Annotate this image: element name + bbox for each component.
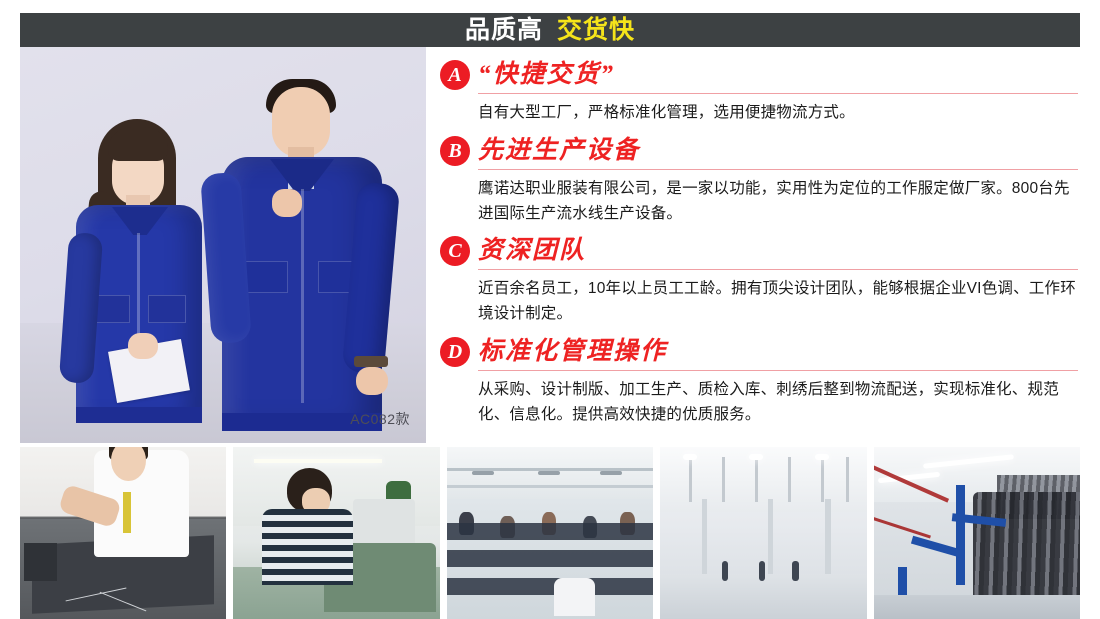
badge-a-icon: A <box>440 60 470 90</box>
hall-floor <box>660 574 866 619</box>
feature-a-divider <box>478 93 1078 94</box>
feature-a-title: “快捷交货” <box>478 62 615 88</box>
product-code-label: AC082款 <box>350 409 410 429</box>
hall-lamp-1 <box>683 454 697 460</box>
feature-b-heading: B 先进生产设备 <box>440 136 1080 166</box>
feature-b-title: 先进生产设备 <box>478 138 640 164</box>
female-model-jacket-hem <box>76 407 202 423</box>
hall-lamp-2 <box>749 454 763 460</box>
badge-c-icon: C <box>440 236 470 266</box>
ceiling-fan-3 <box>600 471 623 475</box>
hall-column-3 <box>825 499 830 585</box>
ceiling-fan-2 <box>538 471 561 475</box>
female-model-hair-front <box>108 127 168 161</box>
thumbnail-production-line[interactable] <box>447 447 653 619</box>
blue-rack-post-1 <box>956 485 965 585</box>
red-pipe-2 <box>874 517 931 539</box>
header-banner-inner: 品质高 交货快 <box>465 18 635 43</box>
badge-b-icon: B <box>440 136 470 166</box>
header-banner: 品质高 交货快 <box>20 13 1080 47</box>
feature-b-divider <box>478 169 1078 170</box>
garment-row-2 <box>447 550 653 567</box>
ceiling-duct-5 <box>821 457 824 502</box>
banner-title-accent: 交货快 <box>557 18 635 43</box>
ceiling-duct-3 <box>755 457 758 502</box>
storage-box <box>24 543 57 581</box>
feature-item-b: B 先进生产设备 鹰诺达职业服装有限公司，是一家以功能，实用性为定位的工作服定做… <box>440 136 1080 227</box>
hall-person-1 <box>722 561 728 582</box>
feature-a-body: 自有大型工厂，严格标准化管理，选用便捷物流方式。 <box>478 101 1078 126</box>
male-model-zipper <box>301 189 304 403</box>
ceiling-duct-4 <box>788 457 791 502</box>
feature-d-heading: D 标准化管理操作 <box>440 337 1080 367</box>
garment-row-1 <box>447 523 653 540</box>
badge-d-icon: D <box>440 337 470 367</box>
male-model-hand-left <box>272 189 302 217</box>
feature-c-title: 资深团队 <box>478 238 586 264</box>
feature-c-divider <box>478 269 1078 270</box>
feature-d-divider <box>478 370 1078 371</box>
garment-row-3 <box>447 578 653 595</box>
factory-photo-strip <box>20 447 1080 619</box>
feature-c-body: 近百余名员工，10年以上员工工龄。拥有顶尖设计团队，能够根据企业VI色调、工作环… <box>478 277 1078 327</box>
warehouse-floor <box>874 595 1080 619</box>
female-model-pocket-right <box>148 295 186 323</box>
promo-page: 品质高 交货快 AC082款 <box>0 0 1100 619</box>
thumbnail-factory-hall[interactable] <box>660 447 866 619</box>
worker-tie <box>123 492 131 533</box>
ceiling-fan-1 <box>472 471 495 475</box>
ceiling-duct-1 <box>689 457 692 502</box>
feature-item-d: D 标准化管理操作 从采购、设计制版、加工生产、质检入库、刺绣后整到物流配送，实… <box>440 337 1080 428</box>
banner-title-primary: 品质高 <box>465 18 543 43</box>
female-model-hand <box>128 333 158 359</box>
thumbnail-sewing-operator[interactable] <box>233 447 439 619</box>
male-model-wristwatch <box>354 356 388 367</box>
feature-d-body: 从采购、设计制版、加工生产、质检入库、刺绣后整到物流配送，实现标准化、规范化、信… <box>478 378 1078 428</box>
hero-product-photo[interactable]: AC082款 <box>20 47 426 443</box>
feature-a-heading: A “快捷交货” <box>440 60 1080 90</box>
feature-c-heading: C 资深团队 <box>440 236 1080 266</box>
feature-b-body: 鹰诺达职业服装有限公司，是一家以功能，实用性为定位的工作服定做厂家。800台先进… <box>478 177 1078 227</box>
feature-list: A “快捷交货” 自有大型工厂，严格标准化管理，选用便捷物流方式。 B 先进生产… <box>440 60 1080 443</box>
ceiling-light <box>254 459 382 463</box>
male-model-hand-right <box>356 367 388 395</box>
feature-d-title: 标准化管理操作 <box>478 339 667 365</box>
thumbnail-cutting-room[interactable] <box>20 447 226 619</box>
thumbnail-garment-warehouse[interactable] <box>874 447 1080 619</box>
hall-column-2 <box>768 499 773 585</box>
ceiling-duct-2 <box>722 457 725 502</box>
hall-person-2 <box>759 561 765 582</box>
ceiling-beam-2 <box>447 485 653 488</box>
hall-person-3 <box>792 561 798 582</box>
male-model-pocket-left <box>244 261 288 293</box>
feature-item-a: A “快捷交货” 自有大型工厂，严格标准化管理，选用便捷物流方式。 <box>440 60 1080 126</box>
hall-column-1 <box>702 499 707 585</box>
feature-item-c: C 资深团队 近百余名员工，10年以上员工工龄。拥有顶尖设计团队，能够根据企业V… <box>440 236 1080 327</box>
hall-lamp-3 <box>815 454 829 460</box>
operator-striped-shirt <box>262 509 353 585</box>
white-fabric-bundle <box>554 578 595 616</box>
ceiling-duct-6 <box>846 457 849 502</box>
